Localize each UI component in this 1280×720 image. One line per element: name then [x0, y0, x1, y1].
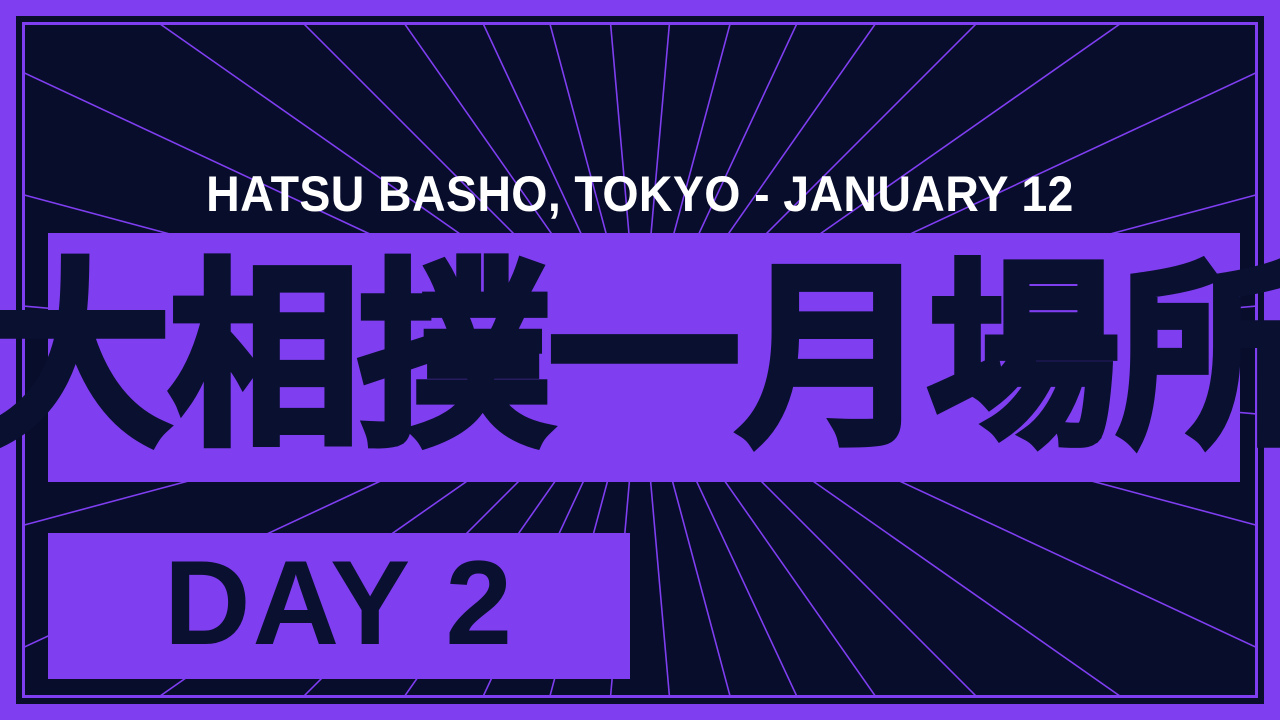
day-badge-label: DAY 2	[164, 541, 514, 671]
event-kicker: HATSU BASHO, TOKYO - JANUARY 12	[45, 166, 1235, 222]
title-japanese: 大相撲一月場所	[0, 257, 1280, 458]
poster-content: HATSU BASHO, TOKYO - JANUARY 12 大相撲一月場所 …	[0, 0, 1280, 720]
title-band: 大相撲一月場所	[48, 233, 1240, 482]
day-badge: DAY 2	[48, 533, 630, 679]
poster-canvas: HATSU BASHO, TOKYO - JANUARY 12 大相撲一月場所 …	[0, 0, 1280, 720]
